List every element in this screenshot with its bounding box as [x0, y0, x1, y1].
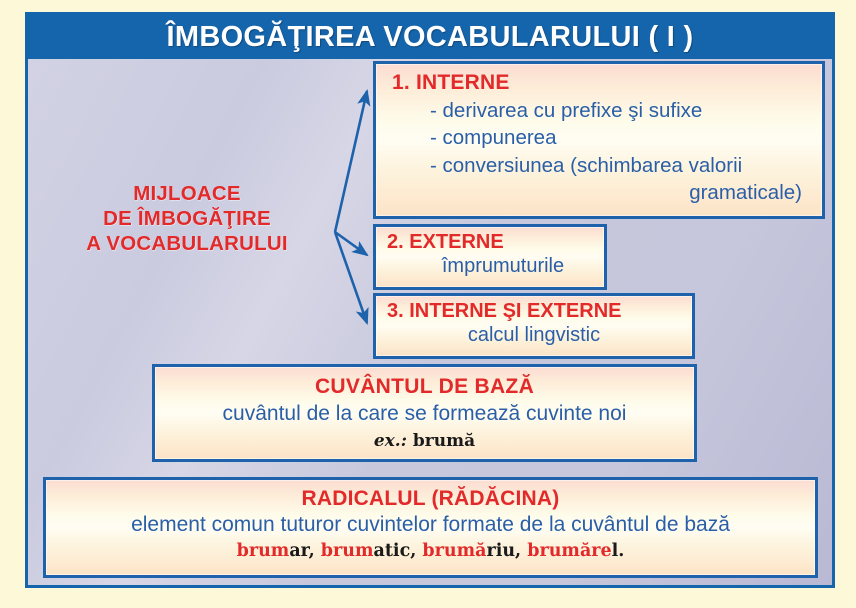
box-cuvant-definition: cuvântul de la care se formează cuvinte … — [155, 402, 694, 426]
box-interne-list: - derivarea cu prefixe şi sufixe - compu… — [376, 97, 822, 206]
box-interne-heading: 1. INTERNE — [376, 71, 822, 95]
list-item: - compunerea — [430, 124, 814, 151]
box-radical-heading: RADICALUL (RĂDĂCINA) — [46, 487, 815, 511]
example-root: brum — [237, 541, 290, 561]
list-item-continuation: gramaticale) — [430, 179, 814, 206]
poster-root: ÎMBOGĂŢIREA VOCABULARULUI ( I ) MIJLOACE… — [0, 0, 856, 608]
example-root: brum — [321, 541, 374, 561]
example-root: brumăre — [527, 541, 611, 561]
example-suffix: riu, — [486, 541, 527, 561]
example-suffix: atic, — [374, 541, 423, 561]
example-word: brumă — [413, 431, 475, 451]
diagram-body: MIJLOACE DE ÎMBOGĂŢIRE A VOCABULARULUI 1… — [28, 59, 832, 585]
list-item: - conversiunea (schimbarea valorii — [430, 152, 814, 179]
left-label-mijloace: MIJLOACE DE ÎMBOGĂŢIRE A VOCABULARULUI — [46, 181, 328, 256]
box-externe: 2. EXTERNE împrumuturile — [373, 224, 607, 290]
box-radical-examples: brumar, brumatic, brumăriu, brumărel. — [46, 541, 815, 561]
left-label-line-2: DE ÎMBOGĂŢIRE — [46, 206, 328, 231]
example-root: brumă — [422, 541, 486, 561]
box-cuvant-heading: CUVÂNTUL DE BAZĂ — [155, 375, 694, 399]
list-item: - derivarea cu prefixe şi sufixe — [430, 97, 814, 124]
box-externe-subtitle: împrumuturile — [376, 255, 604, 278]
arrow-to-externe — [335, 232, 367, 255]
left-label-line-3: A VOCABULARULUI — [46, 231, 328, 256]
box-radicalul: RADICALUL (RĂDĂCINA) element comun tutur… — [43, 477, 818, 578]
box-ambele-heading: 3. INTERNE ŞI EXTERNE — [376, 300, 692, 323]
box-cuvantul-de-baza: CUVÂNTUL DE BAZĂ cuvântul de la care se … — [152, 364, 697, 462]
box-ambele-subtitle: calcul lingvistic — [376, 324, 692, 347]
box-externe-heading: 2. EXTERNE — [376, 231, 604, 254]
example-suffix: l. — [612, 541, 625, 561]
box-cuvant-example: ex.: brumă — [155, 431, 694, 451]
example-suffix: ar, — [289, 541, 320, 561]
arrow-to-interne — [335, 91, 367, 232]
arrow-to-ambele — [335, 232, 367, 323]
box-interne: 1. INTERNE - derivarea cu prefixe şi suf… — [373, 61, 825, 219]
box-interne-si-externe: 3. INTERNE ŞI EXTERNE calcul lingvistic — [373, 293, 695, 359]
box-radical-definition: element comun tuturor cuvintelor formate… — [46, 513, 815, 537]
left-label-line-1: MIJLOACE — [46, 181, 328, 206]
example-prefix: ex.: — [374, 431, 413, 451]
title-bar: ÎMBOGĂŢIREA VOCABULARULUI ( I ) — [28, 15, 832, 59]
page-title: ÎMBOGĂŢIREA VOCABULARULUI ( I ) — [167, 23, 694, 52]
